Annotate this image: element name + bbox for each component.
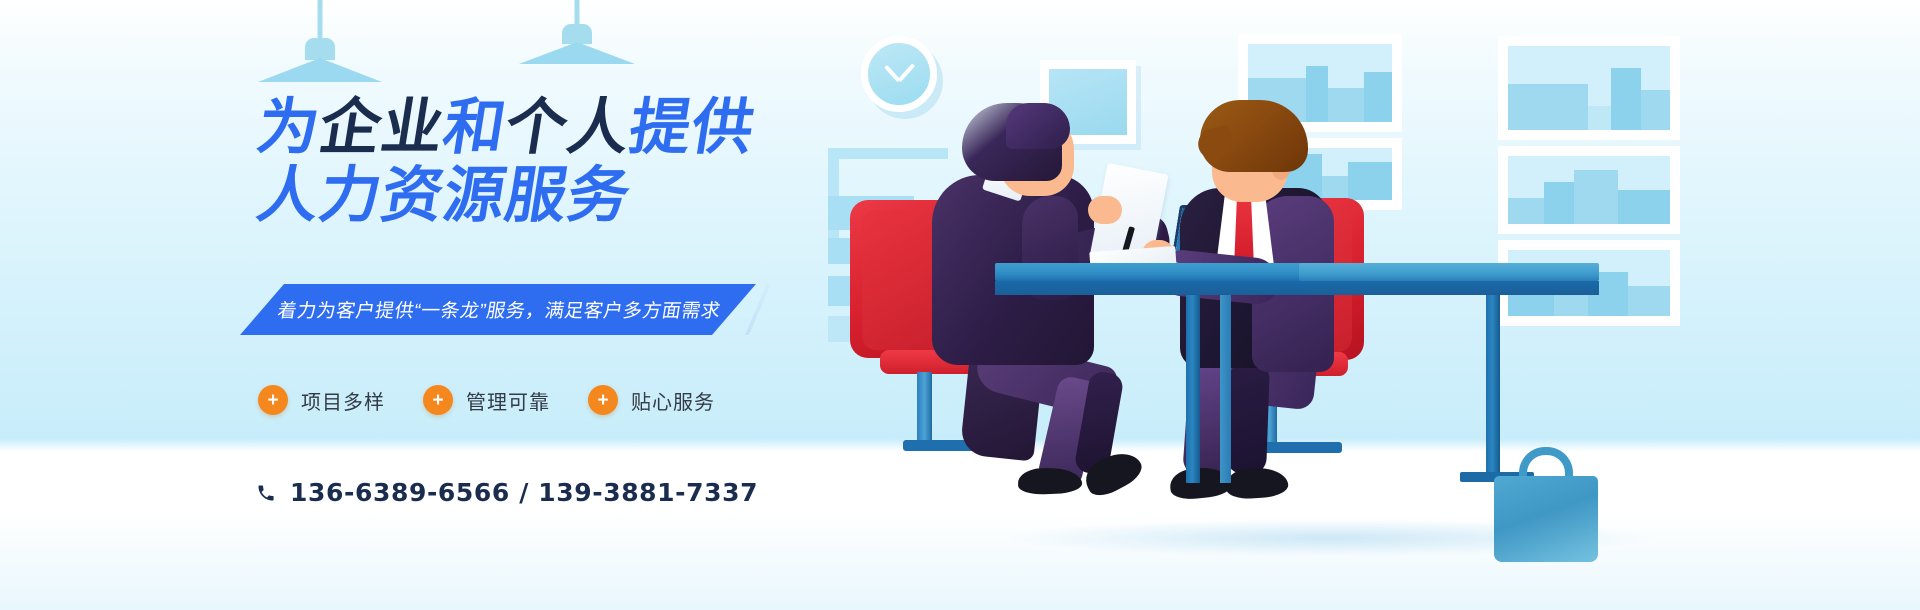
headline-char: 人 bbox=[253, 164, 325, 227]
headline-line-2: 人力资源服务 bbox=[253, 164, 903, 227]
feature-item[interactable]: +管理可靠 bbox=[423, 385, 550, 415]
headline-char: 力 bbox=[315, 164, 387, 227]
headline-char: 为 bbox=[253, 96, 325, 159]
desk-leg bbox=[1220, 295, 1231, 483]
plus-icon: + bbox=[258, 385, 288, 415]
contact-row: 136-6389-6566 / 139-3881-7337 bbox=[256, 478, 758, 507]
headline-char: 务 bbox=[563, 164, 635, 227]
feature-item[interactable]: +贴心服务 bbox=[588, 385, 715, 415]
shoe bbox=[1225, 466, 1289, 500]
hr-service-banner: 为企业和个人提供 人力资源服务 着力为客户提供“一条龙”服务，满足客户多方面需求… bbox=[0, 0, 1920, 610]
headline-char: 和 bbox=[439, 96, 511, 159]
feature-list: +项目多样+管理可靠+贴心服务 bbox=[258, 385, 715, 415]
left-person-hand bbox=[1088, 196, 1122, 224]
page-title: 为企业和个人提供 人力资源服务 bbox=[258, 96, 898, 227]
plus-icon: + bbox=[423, 385, 453, 415]
headline-line-1: 为企业和个人提供 bbox=[253, 96, 903, 159]
headline-char: 人 bbox=[563, 96, 635, 159]
feature-item[interactable]: +项目多样 bbox=[258, 385, 385, 415]
desk-leg bbox=[1486, 295, 1500, 481]
desk-surface bbox=[1299, 263, 1599, 281]
headline-char: 业 bbox=[377, 96, 449, 159]
headline-char: 提 bbox=[625, 96, 697, 159]
subtitle-text: 着力为客户提供“一条龙”服务，满足客户多方面需求 bbox=[276, 296, 723, 323]
briefcase bbox=[1494, 476, 1598, 562]
plus-icon: + bbox=[588, 385, 618, 415]
feature-label: 贴心服务 bbox=[631, 386, 715, 415]
subtitle-ribbon: 着力为客户提供“一条龙”服务，满足客户多方面需求 bbox=[240, 284, 756, 335]
headline-char: 服 bbox=[501, 164, 573, 227]
headline-char: 供 bbox=[687, 96, 759, 159]
desk-leg bbox=[1186, 295, 1200, 483]
right-person-shin-back bbox=[1226, 361, 1270, 474]
headline-char: 源 bbox=[439, 164, 511, 227]
left-person-hair-front bbox=[1006, 103, 1070, 149]
phone-icon bbox=[256, 483, 276, 503]
phone-number[interactable]: 136-6389-6566 / 139-3881-7337 bbox=[290, 478, 758, 507]
desk-edge bbox=[995, 281, 1599, 295]
chair-post bbox=[917, 372, 932, 450]
text-content: 为企业和个人提供 人力资源服务 着力为客户提供“一条龙”服务，满足客户多方面需求… bbox=[0, 0, 900, 610]
feature-label: 项目多样 bbox=[301, 386, 385, 415]
feature-label: 管理可靠 bbox=[466, 386, 550, 415]
headline-char: 个 bbox=[501, 96, 573, 159]
headline-char: 资 bbox=[377, 164, 449, 227]
desk-surface bbox=[995, 263, 1301, 281]
headline-char: 企 bbox=[315, 96, 387, 159]
